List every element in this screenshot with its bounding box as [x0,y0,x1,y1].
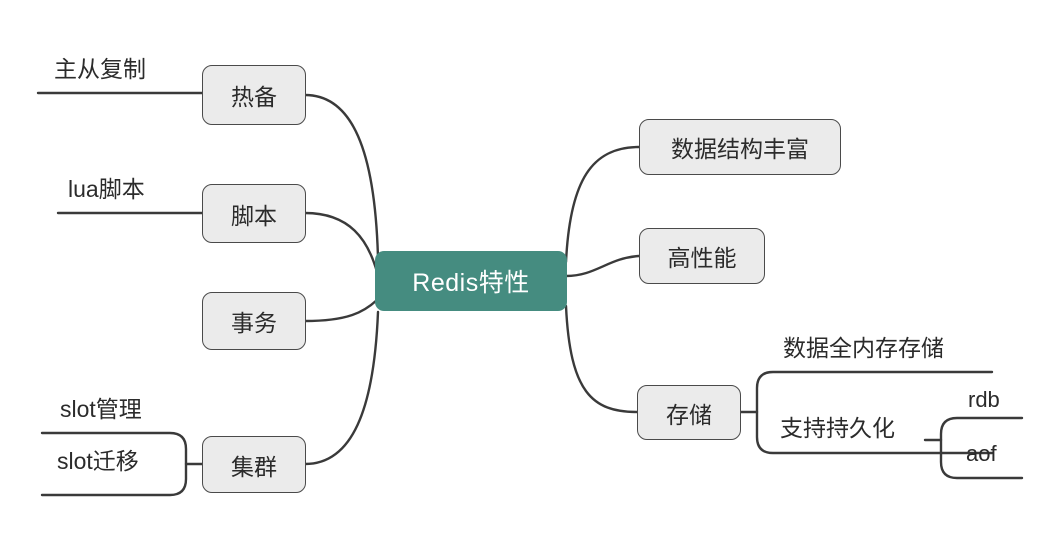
leaf-label-rdb[interactable]: rdb [968,389,1000,411]
branch-node-hot-standby[interactable]: 热备 [202,65,306,125]
branch-node-label: 集群 [231,448,277,482]
branch-node-transaction[interactable]: 事务 [202,292,306,350]
root-node-redis-features[interactable]: Redis特性 [375,251,567,311]
branch-node-label: 数据结构丰富 [671,130,809,164]
edge-root-cluster [305,312,378,464]
branch-node-label: 存储 [666,396,712,430]
leaf-label-all-data-in-memory[interactable]: 数据全内存存储 [783,337,944,360]
branch-node-label: 高性能 [668,239,737,273]
leaf-label-lua-script[interactable]: lua脚本 [68,178,145,201]
branch-node-cluster[interactable]: 集群 [202,436,306,493]
mindmap-canvas: Redis特性 热备 脚本 事务 集群 数据结构丰富 高性能 存储 主从复制 l… [0,0,1064,550]
branch-node-label: 热备 [231,78,277,112]
edge-root-hot-standby [305,95,378,258]
branch-node-data-structures[interactable]: 数据结构丰富 [639,119,841,175]
leaf-label-aof[interactable]: aof [966,443,997,465]
leaf-label-master-slave-replication[interactable]: 主从复制 [54,58,146,81]
leaf-label-supports-persistence[interactable]: 支持持久化 [780,417,895,440]
branch-node-storage[interactable]: 存储 [637,385,741,440]
edge-root-performance [566,256,639,276]
branch-node-label: 脚本 [231,197,277,231]
edge-root-script [305,213,377,272]
edge-root-data-structures [566,147,639,262]
leaf-label-slot-migration[interactable]: slot迁移 [57,450,139,473]
branch-node-script[interactable]: 脚本 [202,184,306,243]
branch-node-label: 事务 [231,304,277,338]
leaf-label-slot-management[interactable]: slot管理 [60,398,142,421]
root-node-label: Redis特性 [412,263,529,299]
branch-node-performance[interactable]: 高性能 [639,228,765,284]
edge-root-storage [566,306,637,412]
edge-root-transaction [305,300,377,321]
